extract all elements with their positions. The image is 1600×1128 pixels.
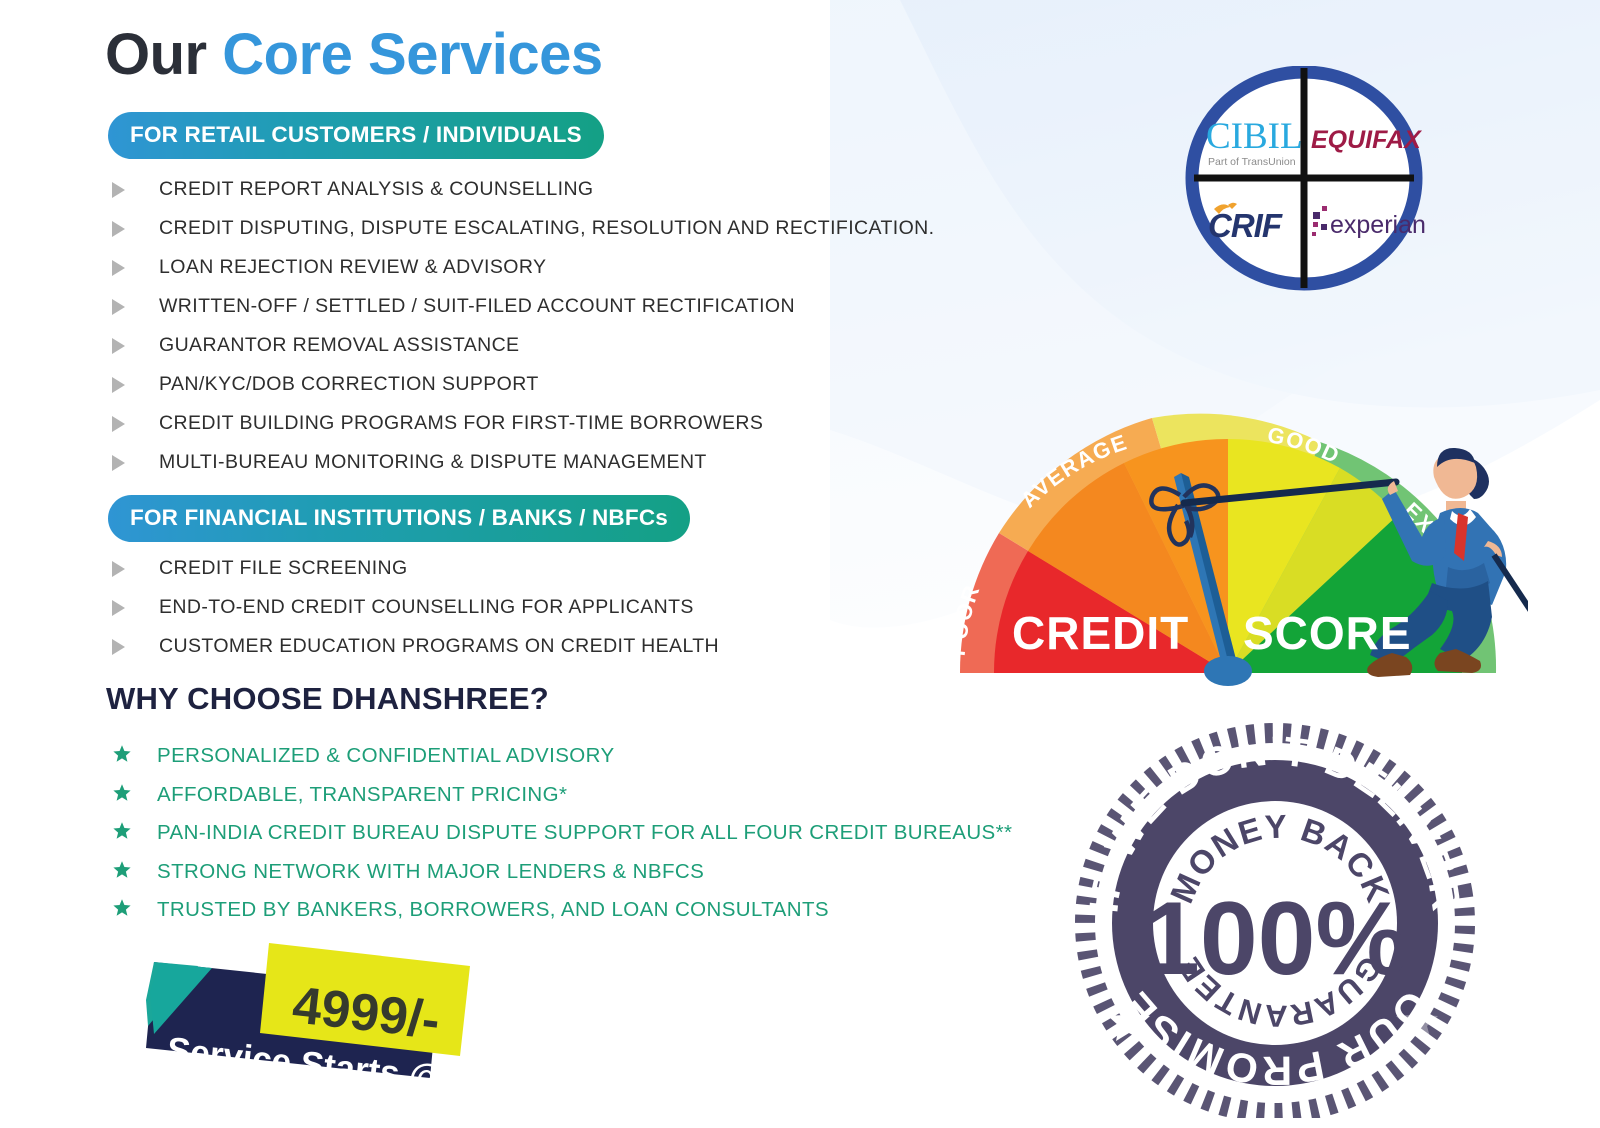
list-item: WRITTEN-OFF / SETTLED / SUIT-FILED ACCOU… bbox=[108, 287, 934, 326]
list-item-label: PERSONALIZED & CONFIDENTIAL ADVISORY bbox=[157, 744, 615, 768]
gauge-word-credit: CREDIT bbox=[1012, 607, 1189, 659]
list-item: TRUSTED BY BANKERS, BORROWERS, AND LOAN … bbox=[112, 891, 1012, 930]
list-item-label: WRITTEN-OFF / SETTLED / SUIT-FILED ACCOU… bbox=[159, 295, 795, 318]
page-title-part-2: Core Services bbox=[222, 22, 602, 87]
bureau-logo-crif: CRIF bbox=[1208, 207, 1283, 244]
list-item: CREDIT REPORT ANALYSIS & COUNSELLING bbox=[108, 170, 934, 209]
gauge-word-score: SCORE bbox=[1243, 607, 1412, 659]
services-list-financial: CREDIT FILE SCREENING END-TO-END CREDIT … bbox=[108, 549, 719, 666]
bureau-logo-equifax: EQUIFAX bbox=[1311, 126, 1422, 154]
list-item-label: CREDIT FILE SCREENING bbox=[159, 557, 408, 580]
star-bullet-icon bbox=[112, 860, 132, 884]
list-item-label: STRONG NETWORK WITH MAJOR LENDERS & NBFC… bbox=[157, 860, 704, 884]
triangle-bullet-icon bbox=[112, 639, 125, 655]
list-item-label: MULTI-BUREAU MONITORING & DISPUTE MANAGE… bbox=[159, 451, 707, 474]
list-item-label: CREDIT BUILDING PROGRAMS FOR FIRST-TIME … bbox=[159, 412, 763, 435]
bureau-logo-cibil-subtitle: Part of TransUnion bbox=[1208, 156, 1296, 168]
list-item-label: CREDIT REPORT ANALYSIS & COUNSELLING bbox=[159, 178, 594, 201]
list-item-label: PAN/KYC/DOB CORRECTION SUPPORT bbox=[159, 373, 539, 396]
triangle-bullet-icon bbox=[112, 416, 125, 432]
list-item: STRONG NETWORK WITH MAJOR LENDERS & NBFC… bbox=[112, 853, 1012, 892]
list-item: PAN/KYC/DOB CORRECTION SUPPORT bbox=[108, 365, 934, 404]
page-title-part-1: Our bbox=[105, 22, 207, 87]
list-item: GUARANTOR REMOVAL ASSISTANCE bbox=[108, 326, 934, 365]
credit-bureau-logos-circle: CIBIL Part of TransUnion EQUIFAX CRIF ex… bbox=[1178, 66, 1430, 291]
poster-canvas: Our Core Services FOR RETAIL CUSTOMERS /… bbox=[0, 0, 1600, 1128]
list-item-label: END-TO-END CREDIT COUNSELLING FOR APPLIC… bbox=[159, 596, 694, 619]
list-item: MULTI-BUREAU MONITORING & DISPUTE MANAGE… bbox=[108, 443, 934, 482]
triangle-bullet-icon bbox=[112, 338, 125, 354]
seal-outer-text: IF WE DON'T DELIVER OUR PROMISE bbox=[1065, 718, 1353, 722]
list-item-label: GUARANTOR REMOVAL ASSISTANCE bbox=[159, 334, 519, 357]
price-tag-badge: 4999/- Service Starts @ bbox=[140, 930, 480, 1090]
list-item: PERSONALIZED & CONFIDENTIAL ADVISORY bbox=[112, 737, 1012, 776]
list-item: CREDIT BUILDING PROGRAMS FOR FIRST-TIME … bbox=[108, 404, 934, 443]
list-item-label: LOAN REJECTION REVIEW & ADVISORY bbox=[159, 256, 546, 279]
list-item: CUSTOMER EDUCATION PROGRAMS ON CREDIT HE… bbox=[108, 627, 719, 666]
star-bullet-icon bbox=[112, 898, 132, 922]
list-item: AFFORDABLE, TRANSPARENT PRICING* bbox=[112, 776, 1012, 815]
bureau-logo-experian: experian bbox=[1330, 211, 1426, 239]
triangle-bullet-icon bbox=[112, 260, 125, 276]
list-item: PAN-INDIA CREDIT BUREAU DISPUTE SUPPORT … bbox=[112, 814, 1012, 853]
list-item: CREDIT FILE SCREENING bbox=[108, 549, 719, 588]
list-item-label: AFFORDABLE, TRANSPARENT PRICING* bbox=[157, 783, 567, 807]
section-header-financial: FOR FINANCIAL INSTITUTIONS / BANKS / NBF… bbox=[108, 495, 690, 542]
page-title: Our Core Services bbox=[105, 26, 603, 84]
why-choose-heading: WHY CHOOSE DHANSHREE? bbox=[106, 681, 549, 717]
triangle-bullet-icon bbox=[112, 600, 125, 616]
star-bullet-icon bbox=[112, 744, 132, 768]
bureau-logo-cibil: CIBIL bbox=[1206, 116, 1303, 157]
money-back-guarantee-seal: IF WE DON'T DELIVER OUR PROMISE IF WE DO… bbox=[1065, 718, 1495, 1118]
triangle-bullet-icon bbox=[112, 455, 125, 471]
list-item: LOAN REJECTION REVIEW & ADVISORY bbox=[108, 248, 934, 287]
section-header-retail: FOR RETAIL CUSTOMERS / INDIVIDUALS bbox=[108, 112, 604, 159]
services-list-retail: CREDIT REPORT ANALYSIS & COUNSELLING CRE… bbox=[108, 170, 934, 482]
why-choose-list: PERSONALIZED & CONFIDENTIAL ADVISORY AFF… bbox=[112, 737, 1012, 930]
credit-score-gauge-illustration: POOR AVERAGE GOOD EXCELLENT bbox=[928, 405, 1528, 690]
triangle-bullet-icon bbox=[112, 377, 125, 393]
list-item-label: CUSTOMER EDUCATION PROGRAMS ON CREDIT HE… bbox=[159, 635, 719, 658]
list-item-label: CREDIT DISPUTING, DISPUTE ESCALATING, RE… bbox=[159, 217, 934, 240]
triangle-bullet-icon bbox=[112, 561, 125, 577]
list-item: END-TO-END CREDIT COUNSELLING FOR APPLIC… bbox=[108, 588, 719, 627]
star-bullet-icon bbox=[112, 821, 132, 845]
list-item-label: PAN-INDIA CREDIT BUREAU DISPUTE SUPPORT … bbox=[157, 821, 1012, 845]
list-item-label: TRUSTED BY BANKERS, BORROWERS, AND LOAN … bbox=[157, 898, 829, 922]
triangle-bullet-icon bbox=[112, 182, 125, 198]
list-item: CREDIT DISPUTING, DISPUTE ESCALATING, RE… bbox=[108, 209, 934, 248]
triangle-bullet-icon bbox=[112, 221, 125, 237]
star-bullet-icon bbox=[112, 783, 132, 807]
triangle-bullet-icon bbox=[112, 299, 125, 315]
